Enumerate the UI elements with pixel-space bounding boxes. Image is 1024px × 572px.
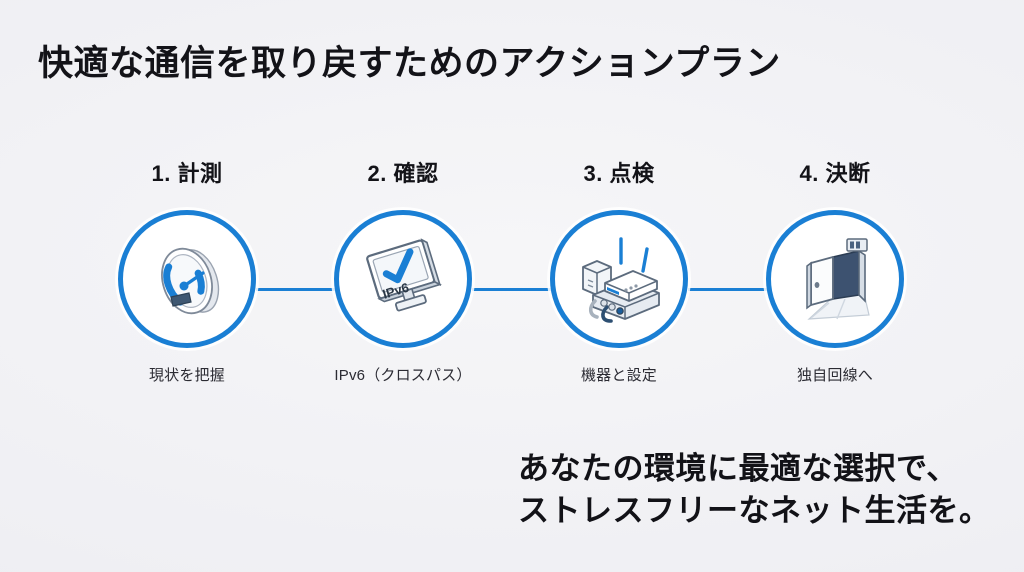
- step-2-caption: IPv6（クロスパス）: [303, 364, 503, 385]
- tagline: あなたの環境に最適な選択で、 ストレスフリーなネット生活を。: [518, 448, 991, 532]
- step-3-circle[interactable]: [550, 210, 688, 348]
- slide-canvas: 快適な通信を取り戻すためのアクションプラン 1. 計測: [0, 0, 1024, 572]
- open-door-exit-icon: [789, 233, 881, 325]
- action-plan-flow: 1. 計測: [0, 160, 1024, 400]
- flow-step-4[interactable]: 4. 決断: [735, 160, 935, 385]
- step-1-title: 1. 計測: [87, 160, 287, 188]
- step-2-circle-ring: IPv6: [334, 210, 472, 348]
- step-3-caption: 機器と設定: [519, 364, 719, 385]
- step-3-title: 3. 点検: [519, 160, 719, 188]
- flow-step-3[interactable]: 3. 点検: [519, 160, 719, 385]
- page-title: 快適な通信を取り戻すためのアクションプラン: [38, 35, 781, 86]
- step-1-caption: 現状を把握: [87, 364, 287, 385]
- step-4-title: 4. 決断: [735, 160, 935, 188]
- step-4-circle-ring: [766, 210, 904, 348]
- step-1-circle-ring: [118, 210, 256, 348]
- monitor-check-ipv6-icon: IPv6: [357, 233, 449, 325]
- speedometer-icon: [141, 233, 233, 325]
- router-modem-icon: [571, 233, 667, 325]
- step-3-circle-ring: [550, 210, 688, 348]
- step-2-title: 2. 確認: [303, 160, 503, 188]
- flow-step-2[interactable]: 2. 確認: [303, 160, 503, 385]
- step-4-circle[interactable]: [766, 210, 904, 348]
- tagline-line-1: あなたの環境に最適な選択で、: [518, 451, 958, 486]
- step-1-circle[interactable]: [118, 210, 256, 348]
- flow-step-1[interactable]: 1. 計測: [87, 160, 287, 385]
- step-4-caption: 独自回線へ: [735, 364, 935, 385]
- step-2-circle[interactable]: IPv6: [334, 210, 472, 348]
- tagline-line-2: ストレスフリーなネット生活を。: [518, 490, 991, 532]
